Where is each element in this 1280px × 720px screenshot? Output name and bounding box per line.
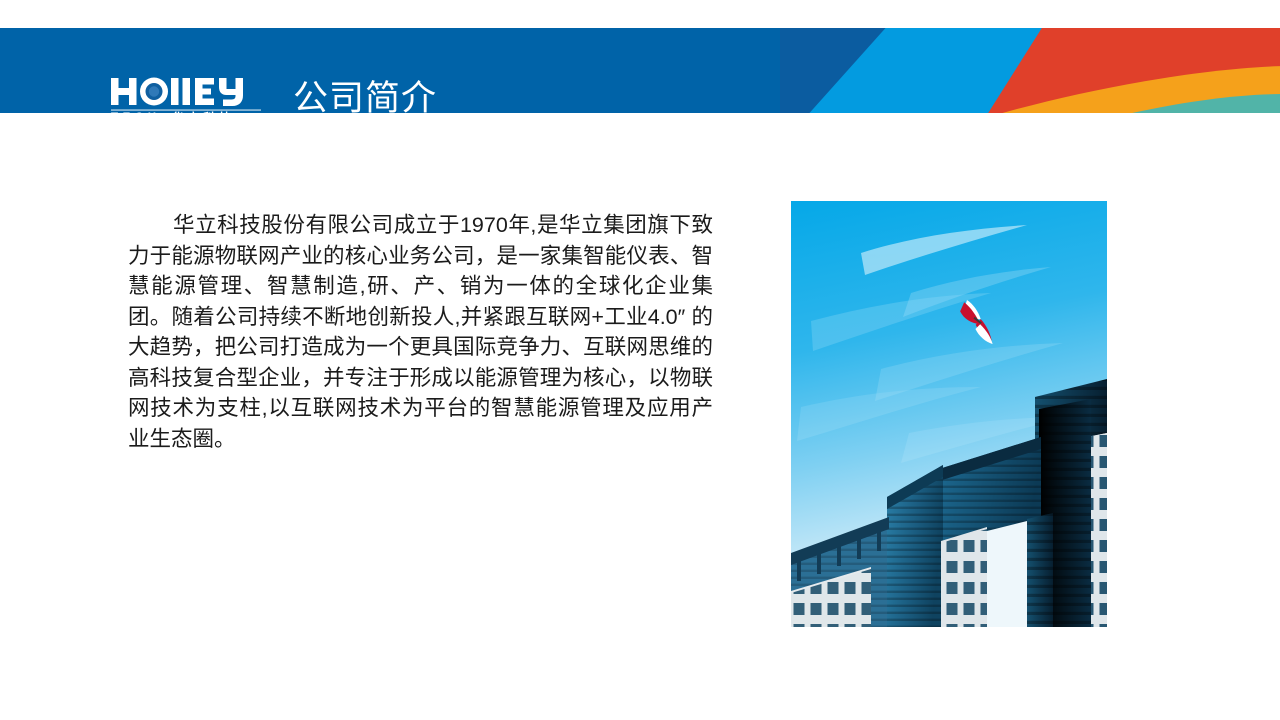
skyscrapers-and-hang-glider-photo: [791, 201, 1107, 627]
holley-tech-logo: TECH 华立科技: [110, 76, 262, 113]
slide-canvas: TECH 华立科技 公司简介 华立科技股份有限公司成立于1970年,是华立集团旗…: [0, 0, 1280, 720]
logo-subline-cn: 华立科技: [172, 111, 235, 114]
building-center-white: [941, 527, 987, 627]
photo-artwork: [791, 201, 1107, 627]
company-profile-paragraph: 华立科技股份有限公司成立于1970年,是华立集团旗下致力于能源物联网产业的核心业…: [128, 210, 713, 454]
corner-ribbon-graphic: [780, 28, 1280, 113]
header-band: TECH 华立科技 公司简介: [0, 28, 1280, 113]
logo-artwork: TECH 华立科技: [110, 76, 262, 113]
logo-subline-en: TECH: [111, 112, 161, 113]
page-title: 公司简介: [293, 74, 437, 113]
building-right-foot: [1027, 513, 1053, 627]
